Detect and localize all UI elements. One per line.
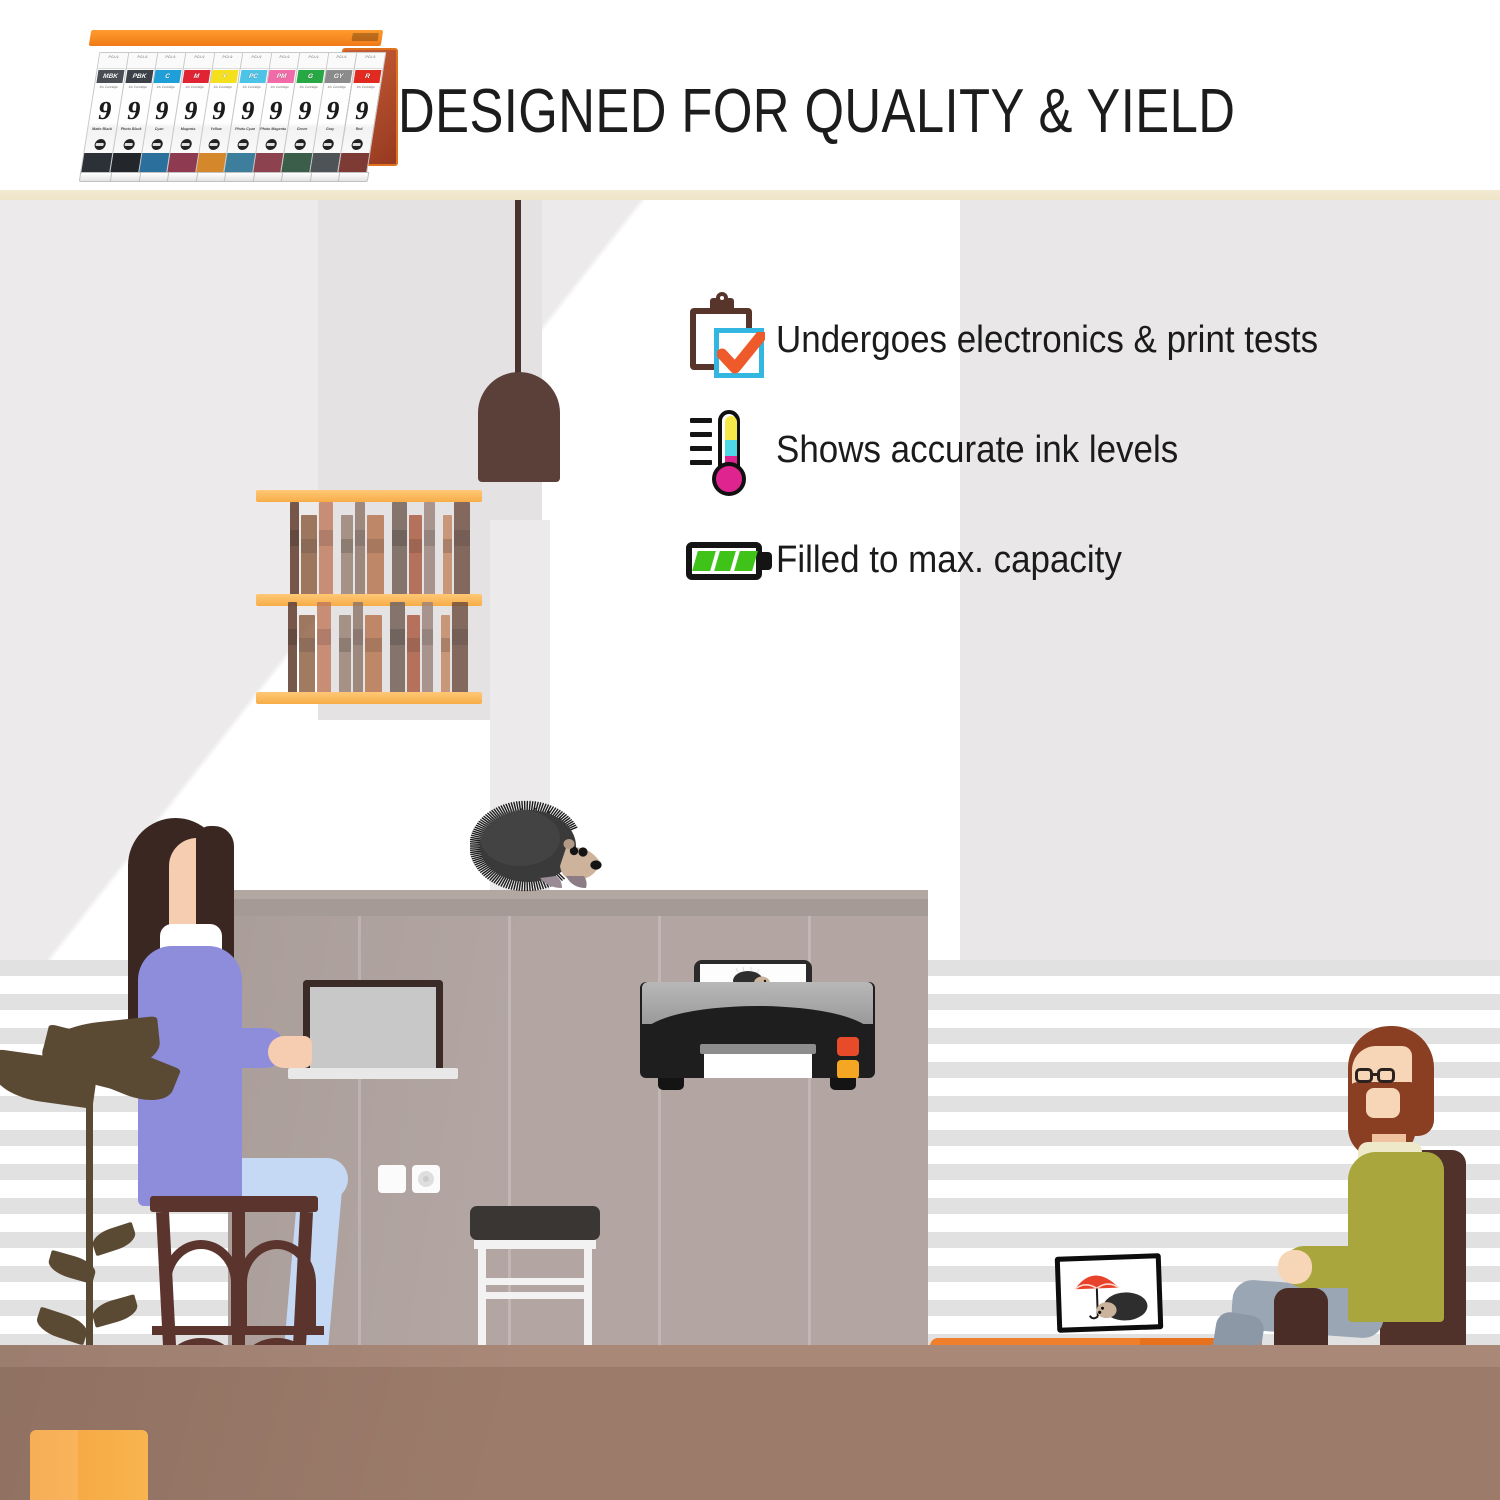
book xyxy=(390,602,405,692)
cartridge-color-name: Magenta xyxy=(173,127,202,131)
cartridge-color-name: Green xyxy=(287,127,316,131)
cartridge-brand: PGI-9 xyxy=(213,55,242,59)
cartridge-base xyxy=(335,172,369,182)
photo-print xyxy=(1060,1258,1158,1327)
man-torso xyxy=(1348,1152,1444,1322)
cartridge-color-name: Red xyxy=(344,127,373,131)
ink-cartridge-set-photo: PGI-9MBKInk Cartridge9Matte BlackPGI-9PB… xyxy=(62,22,392,182)
cartridge-brand: PGI-9 xyxy=(327,55,356,59)
bookshelf-lower xyxy=(256,692,482,704)
cartridge-top: PGI-9 xyxy=(297,53,328,69)
cartridge-color-band: R xyxy=(353,70,381,83)
cartridge-number: 9 xyxy=(231,97,263,125)
battery-full-icon xyxy=(684,514,776,606)
cartridge-brand: PGI-9 xyxy=(299,55,328,59)
cartridge-code: Y xyxy=(222,73,227,80)
cartridge-brand: PGI-9 xyxy=(270,55,299,59)
printer-feed-button[interactable] xyxy=(837,1060,859,1079)
cartridge-seal-icon xyxy=(264,139,277,150)
feature-label: Undergoes electronics & print tests xyxy=(776,319,1318,362)
cartridge-row: PGI-9MBKInk Cartridge9Matte BlackPGI-9PB… xyxy=(80,34,380,174)
book xyxy=(367,515,384,594)
cartridge-brand: PGI-9 xyxy=(128,55,157,59)
book xyxy=(290,502,299,594)
cartridge-code: PC xyxy=(248,73,258,80)
cartridge-number: 9 xyxy=(345,97,377,125)
woman-hand xyxy=(268,1036,312,1068)
cartridge-color-band: C xyxy=(153,70,181,83)
cartridge-base xyxy=(107,172,141,182)
glasses-icon xyxy=(1377,1068,1395,1083)
cartridge-number: 9 xyxy=(117,97,149,125)
book xyxy=(317,602,331,692)
clipboard-check-icon xyxy=(684,294,776,386)
cartridge-color-band: PBK xyxy=(125,70,153,83)
cartridge-seal-icon xyxy=(321,139,334,150)
cartridge-brand: PGI-9 xyxy=(242,55,271,59)
book xyxy=(365,615,382,692)
laptop-base xyxy=(288,1068,458,1079)
book xyxy=(441,615,450,692)
floor-shading xyxy=(0,1345,1500,1500)
cartridge-sublabel: Ink Cartridge xyxy=(208,85,237,89)
glasses-icon xyxy=(1355,1068,1373,1083)
cartridge-seal-icon xyxy=(122,139,135,150)
cartridge-sublabel: Ink Cartridge xyxy=(123,85,152,89)
cartridge-color-band: PM xyxy=(267,70,295,83)
cartridge-seal-icon xyxy=(207,139,220,150)
glasses-bridge xyxy=(1373,1073,1379,1076)
book xyxy=(341,515,353,594)
cartridge-seal-icon xyxy=(350,139,363,150)
cartridge-color-band: Y xyxy=(210,70,238,83)
cartridge-brand: PGI-9 xyxy=(185,55,214,59)
cartridge-top: PGI-9 xyxy=(126,53,157,69)
cartridge-code: PM xyxy=(276,73,287,80)
hedgehog-umbrella-artwork xyxy=(1060,1258,1158,1327)
cartridge-seal-icon xyxy=(150,139,163,150)
hedgehog xyxy=(470,788,610,898)
book xyxy=(301,515,317,594)
cartridge-seal-icon xyxy=(293,139,306,150)
cartridge-seal-icon xyxy=(236,139,249,150)
white-stool-rail xyxy=(478,1278,592,1285)
header-banner: PGI-9MBKInk Cartridge9Matte BlackPGI-9PB… xyxy=(0,0,1500,190)
blind-slat xyxy=(928,960,1500,976)
cartridge-number: 9 xyxy=(174,97,206,125)
cartridge-brand: PGI-9 xyxy=(156,55,185,59)
cartridge-color-name: Photo Magenta xyxy=(259,127,288,131)
feature-item-print-tests: Undergoes electronics & print tests xyxy=(684,294,1474,386)
book xyxy=(353,602,363,692)
cartridge-top: PGI-9 xyxy=(240,53,271,69)
cartridge-sublabel: Ink Cartridge xyxy=(151,85,180,89)
cartridge-brand: PGI-9 xyxy=(356,55,385,59)
cartridge-base xyxy=(221,172,255,182)
man-cheek xyxy=(1366,1088,1400,1118)
book xyxy=(339,615,351,692)
printer-foot xyxy=(830,1078,856,1090)
cartridge-number: 9 xyxy=(203,97,235,125)
book xyxy=(392,502,407,594)
printer-power-button[interactable] xyxy=(837,1037,859,1056)
cartridge-sublabel: Ink Cartridge xyxy=(94,85,123,89)
cartridge-top: PGI-9 xyxy=(183,53,214,69)
cartridge-color-name: Photo Cyan xyxy=(230,127,259,131)
cartridge-sublabel: Ink Cartridge xyxy=(322,85,351,89)
feature-list: Undergoes electronics & print tests Show… xyxy=(684,294,1474,624)
printer-output-slot xyxy=(700,1044,816,1054)
cartridge-top: PGI-9 xyxy=(155,53,186,69)
cartridge-color-band: MBK xyxy=(96,70,124,83)
book xyxy=(443,515,452,594)
cartridge-top: PGI-9 xyxy=(354,53,385,69)
cartridge-code: GY xyxy=(333,73,344,80)
cartridge-base xyxy=(278,172,312,182)
cartridge-number: 9 xyxy=(288,97,320,125)
book xyxy=(409,515,422,594)
thermometer-icon xyxy=(684,404,776,496)
cartridge-base xyxy=(79,172,113,182)
bar-stool-arch xyxy=(162,1240,240,1326)
cartridge-code: G xyxy=(307,73,313,80)
power-outlet-icon xyxy=(378,1165,406,1193)
cartridge-number: 9 xyxy=(317,97,349,125)
cartridge-sublabel: Ink Cartridge xyxy=(180,85,209,89)
cartridge-color-band: G xyxy=(296,70,324,83)
feature-item-max-capacity: Filled to max. capacity xyxy=(684,514,1474,606)
printer-foot xyxy=(658,1078,684,1090)
white-stool-plate xyxy=(474,1240,596,1249)
book xyxy=(319,502,333,594)
cartridge-code: MBK xyxy=(102,73,118,80)
book xyxy=(355,502,365,594)
cartridge-seal-icon xyxy=(93,139,106,150)
cartridge-seal-icon xyxy=(179,139,192,150)
cartridge-color-band: M xyxy=(182,70,210,83)
cartridge-top: PGI-9 xyxy=(326,53,357,69)
cartridge-color-name: Photo Black xyxy=(116,127,145,131)
cartridge-top: PGI-9 xyxy=(98,53,129,69)
cartridge-number: 9 xyxy=(146,97,178,125)
bookshelf-upper xyxy=(256,490,482,502)
cartridge-top: PGI-9 xyxy=(212,53,243,69)
cartridge-sublabel: Ink Cartridge xyxy=(265,85,294,89)
book xyxy=(422,602,433,692)
book xyxy=(299,615,315,692)
cartridge-number: 9 xyxy=(260,97,292,125)
power-socket-icon xyxy=(412,1165,440,1193)
cartridge-sublabel: Ink Cartridge xyxy=(294,85,323,89)
ceiling-strip xyxy=(0,190,1500,200)
cartridge-color-name: Matte Black xyxy=(88,127,117,131)
bar-stool-rail xyxy=(152,1326,324,1335)
book xyxy=(288,602,297,692)
book xyxy=(452,602,468,692)
feature-item-ink-levels: Shows accurate ink levels xyxy=(684,404,1474,496)
cartridge-top: PGI-9 xyxy=(269,53,300,69)
book xyxy=(424,502,435,594)
cartridge-base xyxy=(164,172,198,182)
pendant-lamp-shade xyxy=(478,372,560,482)
laptop-screen xyxy=(303,980,443,1068)
plant-pot-highlight xyxy=(30,1430,78,1500)
blind-slat xyxy=(928,994,1500,1010)
cartridge-color-name: Gray xyxy=(316,127,345,131)
white-stool-cushion xyxy=(470,1206,600,1240)
feature-label: Shows accurate ink levels xyxy=(776,429,1178,472)
bar-stool-arch xyxy=(238,1240,316,1326)
cartridge-code: R xyxy=(364,73,370,80)
cartridge-color-band: GY xyxy=(324,70,352,83)
feature-label: Filled to max. capacity xyxy=(776,539,1122,582)
cartridge-sublabel: Ink Cartridge xyxy=(237,85,266,89)
cartridge-color-band: PC xyxy=(239,70,267,83)
cartridge-code: C xyxy=(165,73,171,80)
framed-hedgehog-umbrella-photo xyxy=(1055,1253,1164,1333)
book xyxy=(454,502,470,594)
page-title: DESIGNED FOR QUALITY & YIELD xyxy=(398,68,1218,154)
cartridge-code: M xyxy=(193,73,200,80)
product-infographic: PGI-9MBKInk Cartridge9Matte BlackPGI-9PB… xyxy=(0,0,1500,1500)
checkmark-icon xyxy=(717,332,765,376)
bar-stool-seat xyxy=(150,1196,318,1212)
cartridge-code: PBK xyxy=(132,73,147,80)
book xyxy=(407,615,420,692)
cartridge-brand: PGI-9 xyxy=(99,55,128,59)
cartridge-sublabel: Ink Cartridge xyxy=(351,85,380,89)
man-hand xyxy=(1278,1250,1312,1284)
cartridge-color-name: Cyan xyxy=(145,127,174,131)
cartridge-number: 9 xyxy=(89,97,121,125)
white-stool-rail xyxy=(478,1292,592,1299)
cartridge-color-name: Yellow xyxy=(202,127,231,131)
printer-output-paper xyxy=(704,1054,812,1078)
printer xyxy=(640,960,875,1090)
